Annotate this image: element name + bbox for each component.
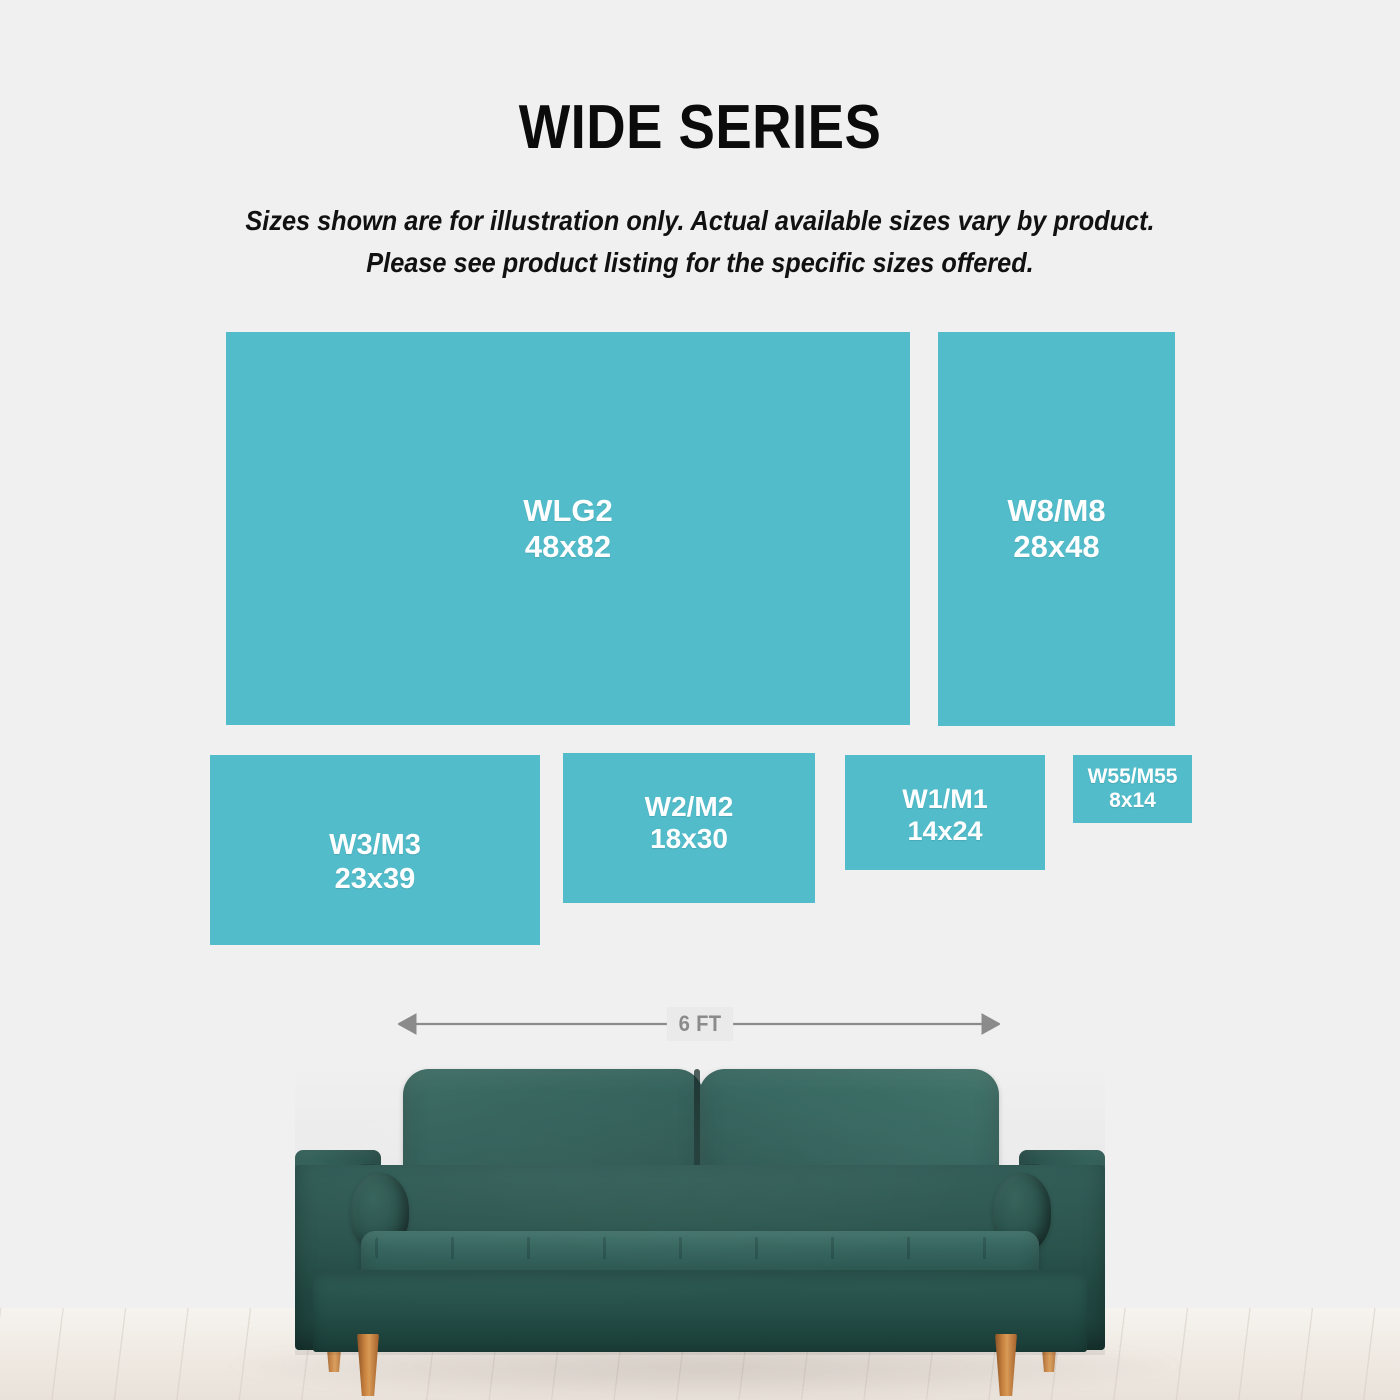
size-box-wlg2[interactable]: WLG2 48x82 xyxy=(226,332,910,725)
sofa-seat-tufting xyxy=(375,1237,1025,1259)
size-box-code: WLG2 xyxy=(523,493,613,529)
size-box-dims: 28x48 xyxy=(1013,529,1099,565)
arrow-left-icon xyxy=(398,1014,416,1034)
sofa-leg-front-left xyxy=(357,1334,379,1396)
subtitle-block: Sizes shown are for illustration only. A… xyxy=(56,200,1344,284)
size-box-dims: 8x14 xyxy=(1109,789,1156,813)
size-box-code: W2/M2 xyxy=(645,791,734,823)
room-scene xyxy=(0,1040,1400,1400)
size-box-w2-m2[interactable]: W2/M2 18x30 xyxy=(563,753,815,903)
sofa-leg-front-right xyxy=(995,1334,1017,1396)
size-guide-canvas: WIDE SERIES Sizes shown are for illustra… xyxy=(0,0,1400,1400)
arrow-right-icon xyxy=(982,1014,1000,1034)
size-box-w55-m55[interactable]: W55/M55 8x14 xyxy=(1073,755,1192,823)
size-box-code: W55/M55 xyxy=(1088,765,1178,789)
size-box-w8-m8[interactable]: W8/M8 28x48 xyxy=(938,332,1175,726)
size-box-dims: 48x82 xyxy=(525,529,611,565)
scale-label: 6 FT xyxy=(667,1007,733,1041)
size-box-dims: 14x24 xyxy=(907,816,982,847)
size-box-code: W8/M8 xyxy=(1007,493,1105,529)
subtitle-line-2: Please see product listing for the speci… xyxy=(56,242,1344,284)
size-box-dims: 23x39 xyxy=(335,863,416,897)
sofa xyxy=(295,1055,1105,1400)
size-box-w3-m3[interactable]: W3/M3 23x39 xyxy=(210,755,540,945)
size-box-w1-m1[interactable]: W1/M1 14x24 xyxy=(845,755,1045,870)
size-box-code: W3/M3 xyxy=(329,829,421,863)
sofa-skirt xyxy=(313,1270,1087,1352)
page-title: WIDE SERIES xyxy=(84,95,1316,160)
subtitle-line-1: Sizes shown are for illustration only. A… xyxy=(56,200,1344,242)
size-box-code: W1/M1 xyxy=(902,784,988,815)
size-box-dims: 18x30 xyxy=(650,823,728,855)
